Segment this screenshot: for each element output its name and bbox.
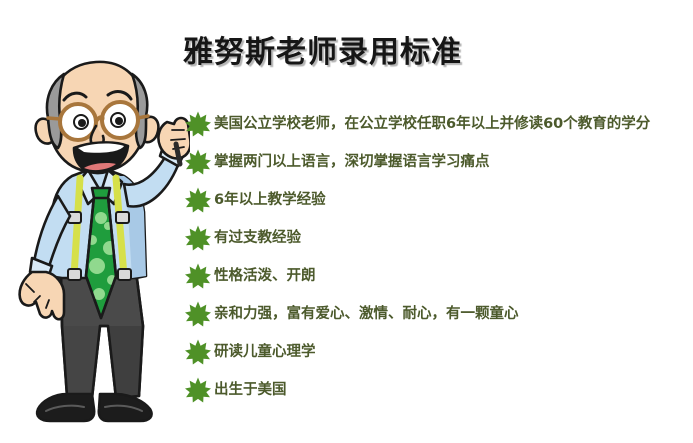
list-item-label: 研读儿童心理学 [214,343,316,361]
green-starburst-icon [185,149,211,175]
criteria-list: 美国公立学校老师，在公立学校任职6年以上并修读60个教育的学分 掌握两门以上语言… [185,105,690,409]
suspender-clip-right-bottom [118,269,131,280]
list-item-label: 6年以上教学经验 [214,191,326,209]
green-starburst-icon [185,263,211,289]
glasses-temple-right [138,116,148,118]
suspender-clip-right-top [116,212,129,223]
green-starburst-icon [185,225,211,251]
shoe-left [37,394,94,421]
hand-left [20,272,64,319]
list-item-label: 美国公立学校老师，在公立学校任职6年以上并修读60个教育的学分 [214,115,650,133]
poster-canvas: 雅努斯老师录用标准 美国公立学校老师，在公立学校任职6年以上并修读60个教育的学… [0,0,693,443]
green-starburst-icon [185,377,211,403]
suspender-clip-left-bottom [68,269,81,280]
list-item-label: 掌握两门以上语言，深切掌握语言学习痛点 [214,153,490,171]
list-item: 掌握两门以上语言，深切掌握语言学习痛点 [185,143,690,181]
list-item: 研读儿童心理学 [185,333,690,371]
teacher-figure-svg [4,26,190,441]
list-item-label: 性格活泼、开朗 [214,267,316,285]
page-title: 雅努斯老师录用标准 [183,33,462,73]
green-starburst-icon [185,301,211,327]
list-item: 美国公立学校老师，在公立学校任职6年以上并修读60个教育的学分 [185,105,690,143]
list-item: 有过支教经验 [185,219,690,257]
list-item: 出生于美国 [185,371,690,409]
list-item: 亲和力强，富有爱心、激情、耐心，有一颗童心 [185,295,690,333]
pupil-right [115,117,123,125]
green-starburst-icon [185,111,211,137]
glasses-temple-left [48,118,60,119]
green-starburst-icon [185,339,211,365]
pupil-left [78,119,86,127]
list-item-label: 有过支教经验 [214,229,301,247]
necktie-knot [92,188,110,198]
green-starburst-icon [185,187,211,213]
list-item-label: 出生于美国 [214,381,287,399]
list-item: 性格活泼、开朗 [185,257,690,295]
cartoon-teacher-illustration [4,26,190,441]
list-item: 6年以上教学经验 [185,181,690,219]
list-item-label: 亲和力强，富有爱心、激情、耐心，有一颗童心 [214,305,519,323]
